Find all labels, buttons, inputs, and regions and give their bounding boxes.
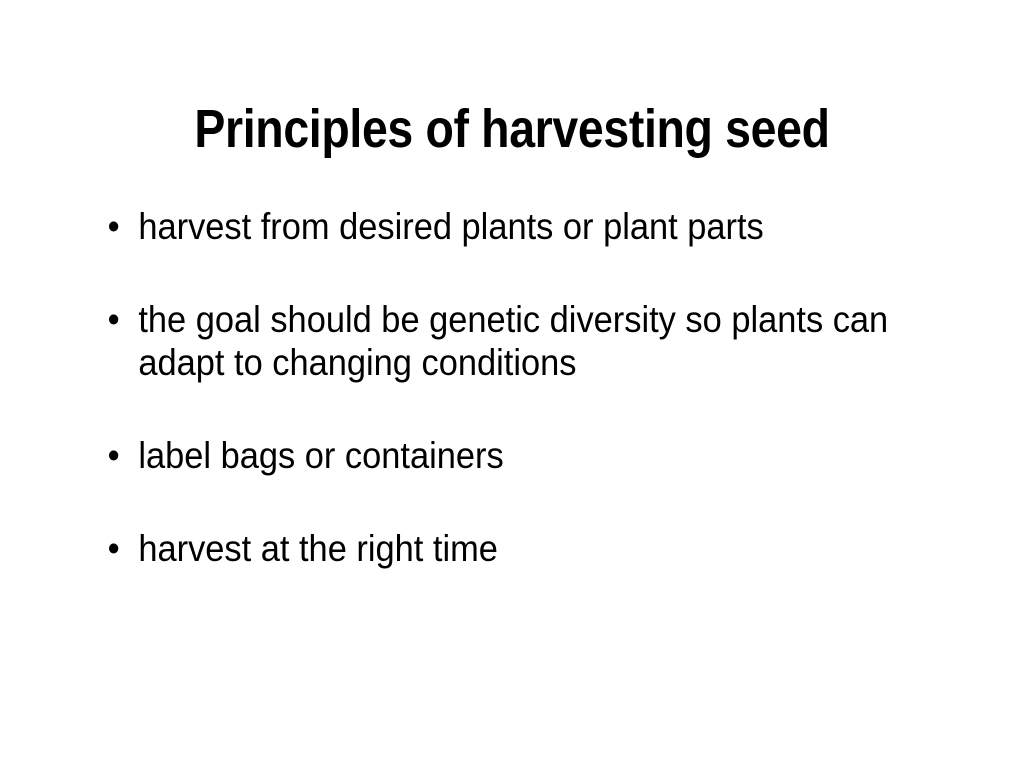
bullet-list: • harvest from desired plants or plant p… bbox=[103, 205, 993, 570]
list-item: • harvest at the right time bbox=[103, 527, 931, 570]
bullet-point-icon: • bbox=[108, 205, 128, 248]
slide-canvas: Principles of harvesting seed • harvest … bbox=[0, 0, 1024, 768]
list-item: • label bags or containers bbox=[103, 434, 931, 477]
bullet-point-icon: • bbox=[108, 434, 128, 477]
list-item: • the goal should be genetic diversity s… bbox=[103, 298, 931, 384]
list-item-label: harvest from desired plants or plant par… bbox=[138, 205, 930, 248]
list-item-label: harvest at the right time bbox=[138, 527, 930, 570]
list-item-label: label bags or containers bbox=[138, 434, 930, 477]
list-item-label: the goal should be genetic diversity so … bbox=[138, 298, 930, 384]
page-title: Principles of harvesting seed bbox=[72, 98, 953, 160]
list-item: • harvest from desired plants or plant p… bbox=[103, 205, 931, 248]
bullet-point-icon: • bbox=[108, 527, 128, 570]
bullet-point-icon: • bbox=[108, 298, 128, 341]
